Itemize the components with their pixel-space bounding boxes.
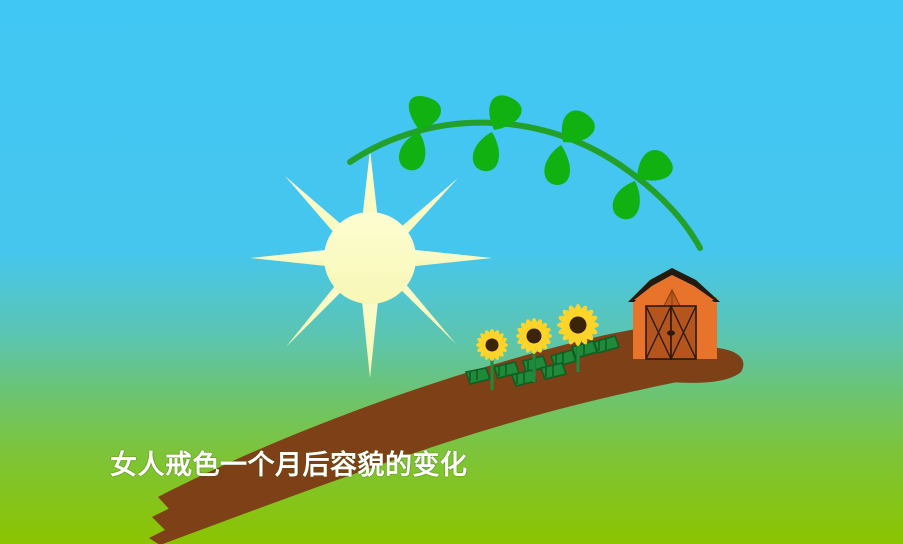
sunflower-core — [486, 339, 499, 352]
barn-door-handle — [667, 330, 675, 335]
sunflower-core — [527, 329, 542, 344]
sun-core — [324, 212, 416, 304]
sunflower-core — [570, 317, 587, 334]
farm-illustration: 女人戒色一个月后容貌的变化 — [0, 0, 903, 544]
background-sky — [0, 0, 903, 544]
scene-canvas — [0, 0, 903, 544]
